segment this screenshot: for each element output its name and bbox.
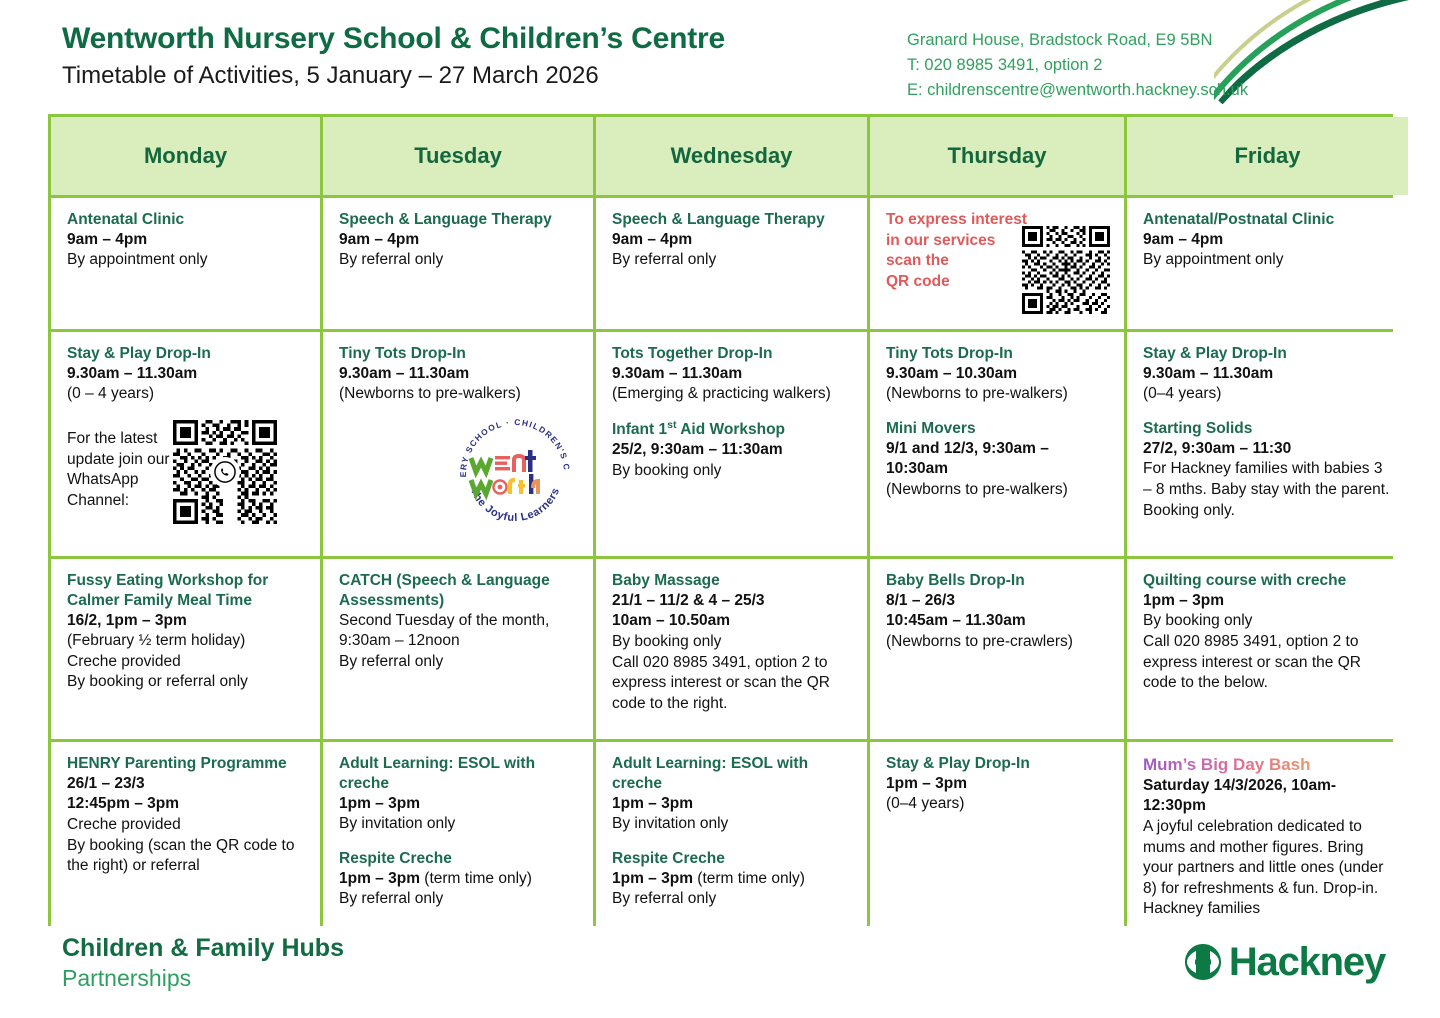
activity-title-secondary: Respite Creche [339,849,579,869]
cell-wednesday-r1: Speech & Language Therapy 9am – 4pm By r… [596,198,867,329]
whatsapp-note-line-2: update join our [67,450,182,471]
activity-note: (Newborns to pre-walkers) [339,384,579,405]
express-interest-qr-code[interactable] [1022,226,1110,314]
infant-aid-pre: Infant 1 [612,421,667,438]
activity-time: Saturday 14/3/2026, 10am-12:30pm [1143,776,1394,817]
activity-time: 9.30am – 11.30am [1143,364,1394,385]
poster-header: Wentworth Nursery School & Children’s Ce… [62,22,1380,114]
hubs-subtitle: Partnerships [62,965,344,991]
activity-note: Creche provided By booking (scan the QR … [67,815,306,877]
cell-thursday-r1: To express interest in our services scan… [870,198,1124,329]
hackney-council-logo: Hackney [1181,940,1385,984]
activity-title: HENRY Parenting Programme [67,754,306,774]
respite-time-tail: (term time only) [420,870,532,887]
cell-friday-r4: Mum’s Big Day Bash Saturday 14/3/2026, 1… [1127,742,1408,941]
activity-note: (February ½ term holiday) Creche provide… [67,631,306,693]
activity-title: Tiny Tots Drop-In [886,344,1110,364]
whatsapp-icon [210,457,240,487]
cell-monday-r3: Fussy Eating Workshop for Calmer Family … [51,559,320,739]
activity-note: (0–4 years) [1143,384,1394,405]
activity-title-secondary: Mini Movers [886,419,1110,439]
cell-thursday-r2: Tiny Tots Drop-In 9.30am – 10.30am (Newb… [870,332,1124,556]
infant-aid-ordinal: st [667,419,676,431]
activity-time-secondary: 1pm – 3pm (term time only) [339,869,579,890]
cell-tuesday-r1: Speech & Language Therapy 9am – 4pm By r… [323,198,593,329]
activity-note: (0 – 4 years) [67,384,306,405]
activity-time-secondary: 9/1 and 12/3, 9:30am – 10:30am [886,439,1110,480]
svg-text:The Joyful Learners: The Joyful Learners [468,486,563,524]
children-family-hubs-logo: Children & Family Hubs Partnerships [62,935,344,991]
activity-time: 9.30am – 11.30am [612,364,853,385]
respite-time-tail: (term time only) [693,870,805,887]
activity-title-secondary: Starting Solids [1143,419,1394,439]
activity-time: 1pm – 3pm [612,794,853,815]
activity-time: 9am – 4pm [67,230,306,251]
activity-note: By invitation only [339,814,579,835]
day-header-tuesday: Tuesday [323,117,593,195]
hubs-title: Children & Family Hubs [62,935,344,963]
activity-note: By appointment only [1143,250,1394,271]
contact-phone: T: 020 8985 3491, option 2 [907,53,1387,78]
activity-title: Baby Massage [612,571,853,591]
whatsapp-note-line-4: Channel: [67,491,182,512]
activity-time: 9am – 4pm [1143,230,1394,251]
activity-title: Stay & Play Drop-In [886,754,1110,774]
day-header-monday: Monday [51,117,320,195]
infant-aid-post: Aid Workshop [677,421,786,438]
activity-note: (0–4 years) [886,794,1110,815]
hackney-wordmark: Hackney [1229,942,1385,982]
cell-friday-r1: Antenatal/Postnatal Clinic 9am – 4pm By … [1127,198,1408,329]
activity-note: By booking only Call 020 8985 3491, opti… [612,632,853,714]
svg-text:NURSERY SCHOOL · CHILDREN'S CE: NURSERY SCHOOL · CHILDREN'S CENTRE [451,410,572,477]
activity-title: Speech & Language Therapy [339,210,579,230]
whatsapp-note-line-3: WhatsApp [67,470,182,491]
activity-time: 1pm – 3pm [1143,591,1394,612]
activity-note: (Newborns to pre-walkers) [886,384,1110,405]
activity-note-secondary: By referral only [612,889,853,910]
activity-title: Speech & Language Therapy [612,210,853,230]
activity-note: (Newborns to pre-crawlers) [886,632,1110,653]
activity-note: By invitation only [612,814,853,835]
day-header-friday: Friday [1127,117,1408,195]
activity-time-secondary: 27/2, 9:30am – 11:30 [1143,439,1394,460]
activity-time: 21/1 – 11/2 & 4 – 25/3 10am – 10.50am [612,591,853,632]
activity-title: CATCH (Speech & Language Assessments) [339,571,579,611]
cell-tuesday-r4: Adult Learning: ESOL with creche 1pm – 3… [323,742,593,941]
cell-wednesday-r4: Adult Learning: ESOL with creche 1pm – 3… [596,742,867,941]
cell-monday-r2: Stay & Play Drop-In 9.30am – 11.30am (0 … [51,332,320,556]
activity-title: Fussy Eating Workshop for Calmer Family … [67,571,306,611]
mums-big-day-bash-title: Mum’s Big Day Bash [1143,754,1311,776]
activity-title: Antenatal/Postnatal Clinic [1143,210,1394,230]
timetable-poster: Wentworth Nursery School & Children’s Ce… [0,0,1440,1018]
activity-time: 9.30am – 11.30am [339,364,579,385]
contact-address: Granard House, Bradstock Road, E9 5BN [907,28,1387,53]
activity-title: Stay & Play Drop-In [67,344,306,364]
activity-time: 9am – 4pm [612,230,853,251]
day-header-thursday: Thursday [870,117,1124,195]
activity-note: By appointment only [67,250,306,271]
timetable-grid: Monday Tuesday Wednesday Thursday Friday… [48,114,1393,926]
cell-tuesday-r2: Tiny Tots Drop-In 9.30am – 11.30am (Newb… [323,332,593,556]
hackney-h-icon [1181,940,1225,984]
activity-title-secondary: Respite Creche [612,849,853,869]
activity-note: By referral only [339,250,579,271]
activity-note: A joyful celebration dedicated to mums a… [1143,817,1394,920]
activity-note-secondary: By referral only [339,889,579,910]
contact-email: E: childrenscentre@wentworth.hackney.sch… [907,78,1387,103]
activity-note: (Emerging & practicing walkers) [612,384,853,405]
activity-title: Quilting course with creche [1143,571,1394,591]
activity-time: 9.30am – 11.30am [67,364,306,385]
activity-title: Antenatal Clinic [67,210,306,230]
activity-title: Tiny Tots Drop-In [339,344,579,364]
whatsapp-channel-qr-code[interactable] [173,420,277,524]
contact-block: Granard House, Bradstock Road, E9 5BN T:… [907,28,1387,104]
cell-thursday-r3: Baby Bells Drop-In 8/1 – 26/3 10:45am – … [870,559,1124,739]
activity-title: Tots Together Drop-In [612,344,853,364]
cell-tuesday-r3: CATCH (Speech & Language Assessments) Se… [323,559,593,739]
activity-time: 1pm – 3pm [886,774,1110,795]
activity-time: 16/2, 1pm – 3pm [67,611,306,632]
cell-monday-r1: Antenatal Clinic 9am – 4pm By appointmen… [51,198,320,329]
cell-monday-r4: HENRY Parenting Programme 26/1 – 23/3 12… [51,742,320,941]
activity-note-secondary: (Newborns to pre-walkers) [886,480,1110,501]
activity-time-secondary: 1pm – 3pm (term time only) [612,869,853,890]
activity-time: 9am – 4pm [339,230,579,251]
activity-time-secondary: 25/2, 9:30am – 11:30am [612,440,853,461]
activity-title: Baby Bells Drop-In [886,571,1110,591]
cell-friday-r3: Quilting course with creche 1pm – 3pm By… [1127,559,1408,739]
activity-time: 9.30am – 10.30am [886,364,1110,385]
activity-note-secondary: For Hackney families with babies 3 – 8 m… [1143,459,1394,521]
activity-note-secondary: By booking only [612,461,853,482]
activity-note: By referral only [612,250,853,271]
respite-time: 1pm – 3pm [339,870,420,887]
whatsapp-note-line-1: For the latest [67,429,182,450]
activity-title: Stay & Play Drop-In [1143,344,1394,364]
cell-thursday-r4: Stay & Play Drop-In 1pm – 3pm (0–4 years… [870,742,1124,941]
activity-time: 8/1 – 26/3 10:45am – 11.30am [886,591,1110,632]
cell-wednesday-r2: Tots Together Drop-In 9.30am – 11.30am (… [596,332,867,556]
activity-title: Adult Learning: ESOL with creche [612,754,853,794]
day-header-wednesday: Wednesday [596,117,867,195]
cell-wednesday-r3: Baby Massage 21/1 – 11/2 & 4 – 25/3 10am… [596,559,867,739]
activity-title-secondary: Infant 1st Aid Workshop [612,419,853,440]
wentworth-logo: NURSERY SCHOOL · CHILDREN'S CENTRE The J… [451,410,579,538]
activity-title: Adult Learning: ESOL with creche [339,754,579,794]
activity-time: 1pm – 3pm [339,794,579,815]
activity-note: Second Tuesday of the month, 9:30am – 12… [339,611,579,673]
respite-time: 1pm – 3pm [612,870,693,887]
cell-friday-r2: Stay & Play Drop-In 9.30am – 11.30am (0–… [1127,332,1408,556]
activity-time: 26/1 – 23/3 12:45pm – 3pm [67,774,306,815]
activity-note: By booking only Call 020 8985 3491, opti… [1143,611,1394,693]
